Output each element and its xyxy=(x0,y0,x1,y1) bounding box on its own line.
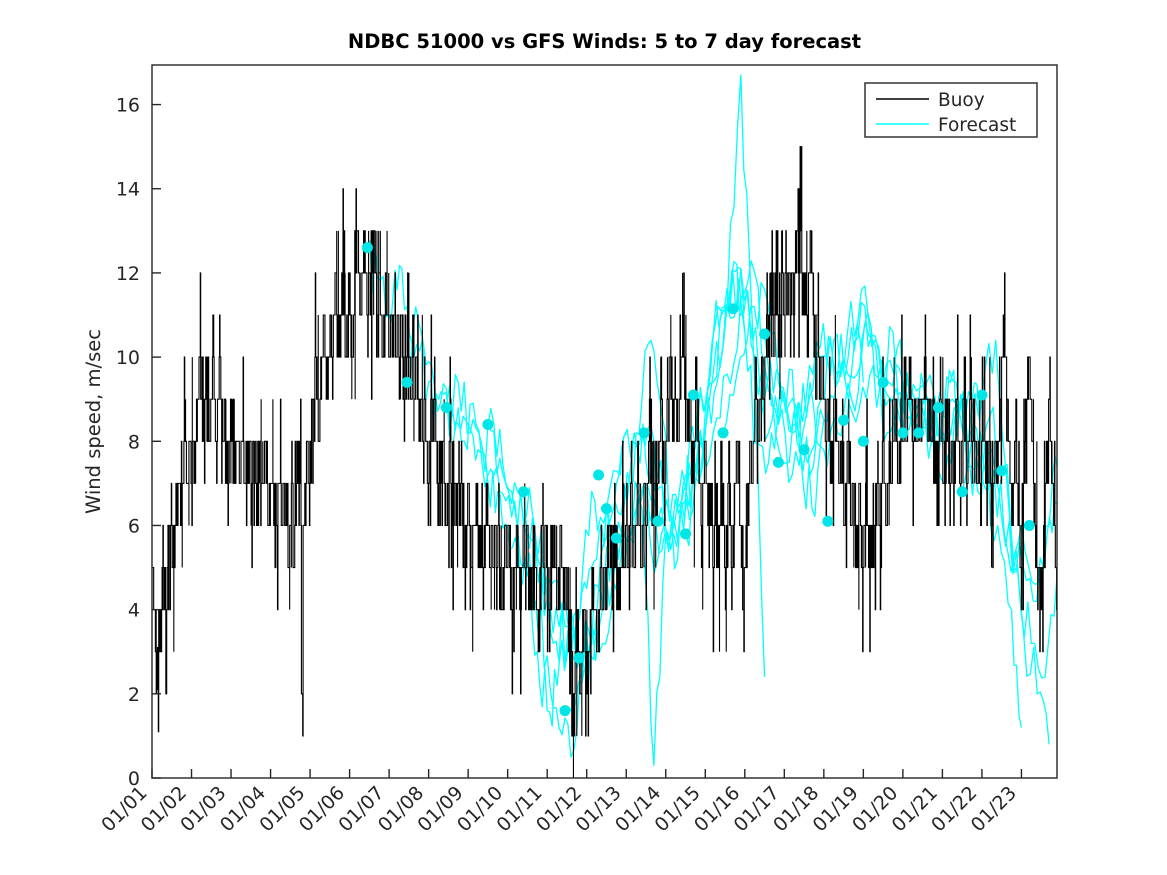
y-tick-label: 6 xyxy=(128,515,140,537)
y-tick-label: 16 xyxy=(116,95,140,117)
forecast-marker-dot[interactable] xyxy=(913,427,924,438)
forecast-marker-dot[interactable] xyxy=(996,465,1007,476)
forecast-marker-dot[interactable] xyxy=(897,427,908,438)
forecast-marker-dot[interactable] xyxy=(957,486,968,497)
forecast-marker-dot[interactable] xyxy=(401,377,412,388)
forecast-marker-dot[interactable] xyxy=(878,377,889,388)
forecast-marker-dot[interactable] xyxy=(639,427,650,438)
forecast-marker-dot[interactable] xyxy=(482,419,493,430)
forecast-marker-dot[interactable] xyxy=(759,328,770,339)
forecast-marker-dot[interactable] xyxy=(441,402,452,413)
forecast-marker-dot[interactable] xyxy=(858,436,869,447)
forecast-marker-dot[interactable] xyxy=(933,402,944,413)
forecast-marker-dot[interactable] xyxy=(652,516,663,527)
forecast-marker-dot[interactable] xyxy=(727,303,738,314)
forecast-marker-dot[interactable] xyxy=(573,653,584,664)
legend-label-buoy: Buoy xyxy=(938,90,985,111)
figure-canvas: NDBC 51000 vs GFS Winds: 5 to 7 day fore… xyxy=(0,0,1167,875)
legend[interactable]: Buoy Forecast xyxy=(865,83,1037,137)
legend-label-forecast: Forecast xyxy=(938,115,1016,136)
y-tick-label: 8 xyxy=(128,431,140,453)
y-tick-label: 2 xyxy=(128,684,140,706)
forecast-marker-dot[interactable] xyxy=(1024,520,1035,531)
forecast-marker-dot[interactable] xyxy=(518,486,529,497)
forecast-marker-dot[interactable] xyxy=(773,457,784,468)
forecast-marker-dot[interactable] xyxy=(601,503,612,514)
forecast-marker-dot[interactable] xyxy=(362,242,373,253)
chart-title: NDBC 51000 vs GFS Winds: 5 to 7 day fore… xyxy=(348,30,861,53)
forecast-marker-dot[interactable] xyxy=(611,533,622,544)
forecast-marker-dot[interactable] xyxy=(822,516,833,527)
forecast-marker-dot[interactable] xyxy=(559,705,570,716)
forecast-marker-dot[interactable] xyxy=(688,389,699,400)
y-axis-label: Wind speed, m/sec xyxy=(82,329,105,514)
forecast-marker-dot[interactable] xyxy=(718,427,729,438)
forecast-marker-dot[interactable] xyxy=(593,469,604,480)
forecast-marker-dot[interactable] xyxy=(680,528,691,539)
y-tick-label: 4 xyxy=(128,600,140,622)
y-tick-label: 14 xyxy=(116,179,140,201)
y-tick-label: 12 xyxy=(116,263,140,285)
chart-svg: NDBC 51000 vs GFS Winds: 5 to 7 day fore… xyxy=(0,0,1167,875)
forecast-marker-dot[interactable] xyxy=(799,444,810,455)
forecast-marker-dot[interactable] xyxy=(976,389,987,400)
forecast-marker-dot[interactable] xyxy=(838,415,849,426)
y-tick-label: 10 xyxy=(116,347,140,369)
